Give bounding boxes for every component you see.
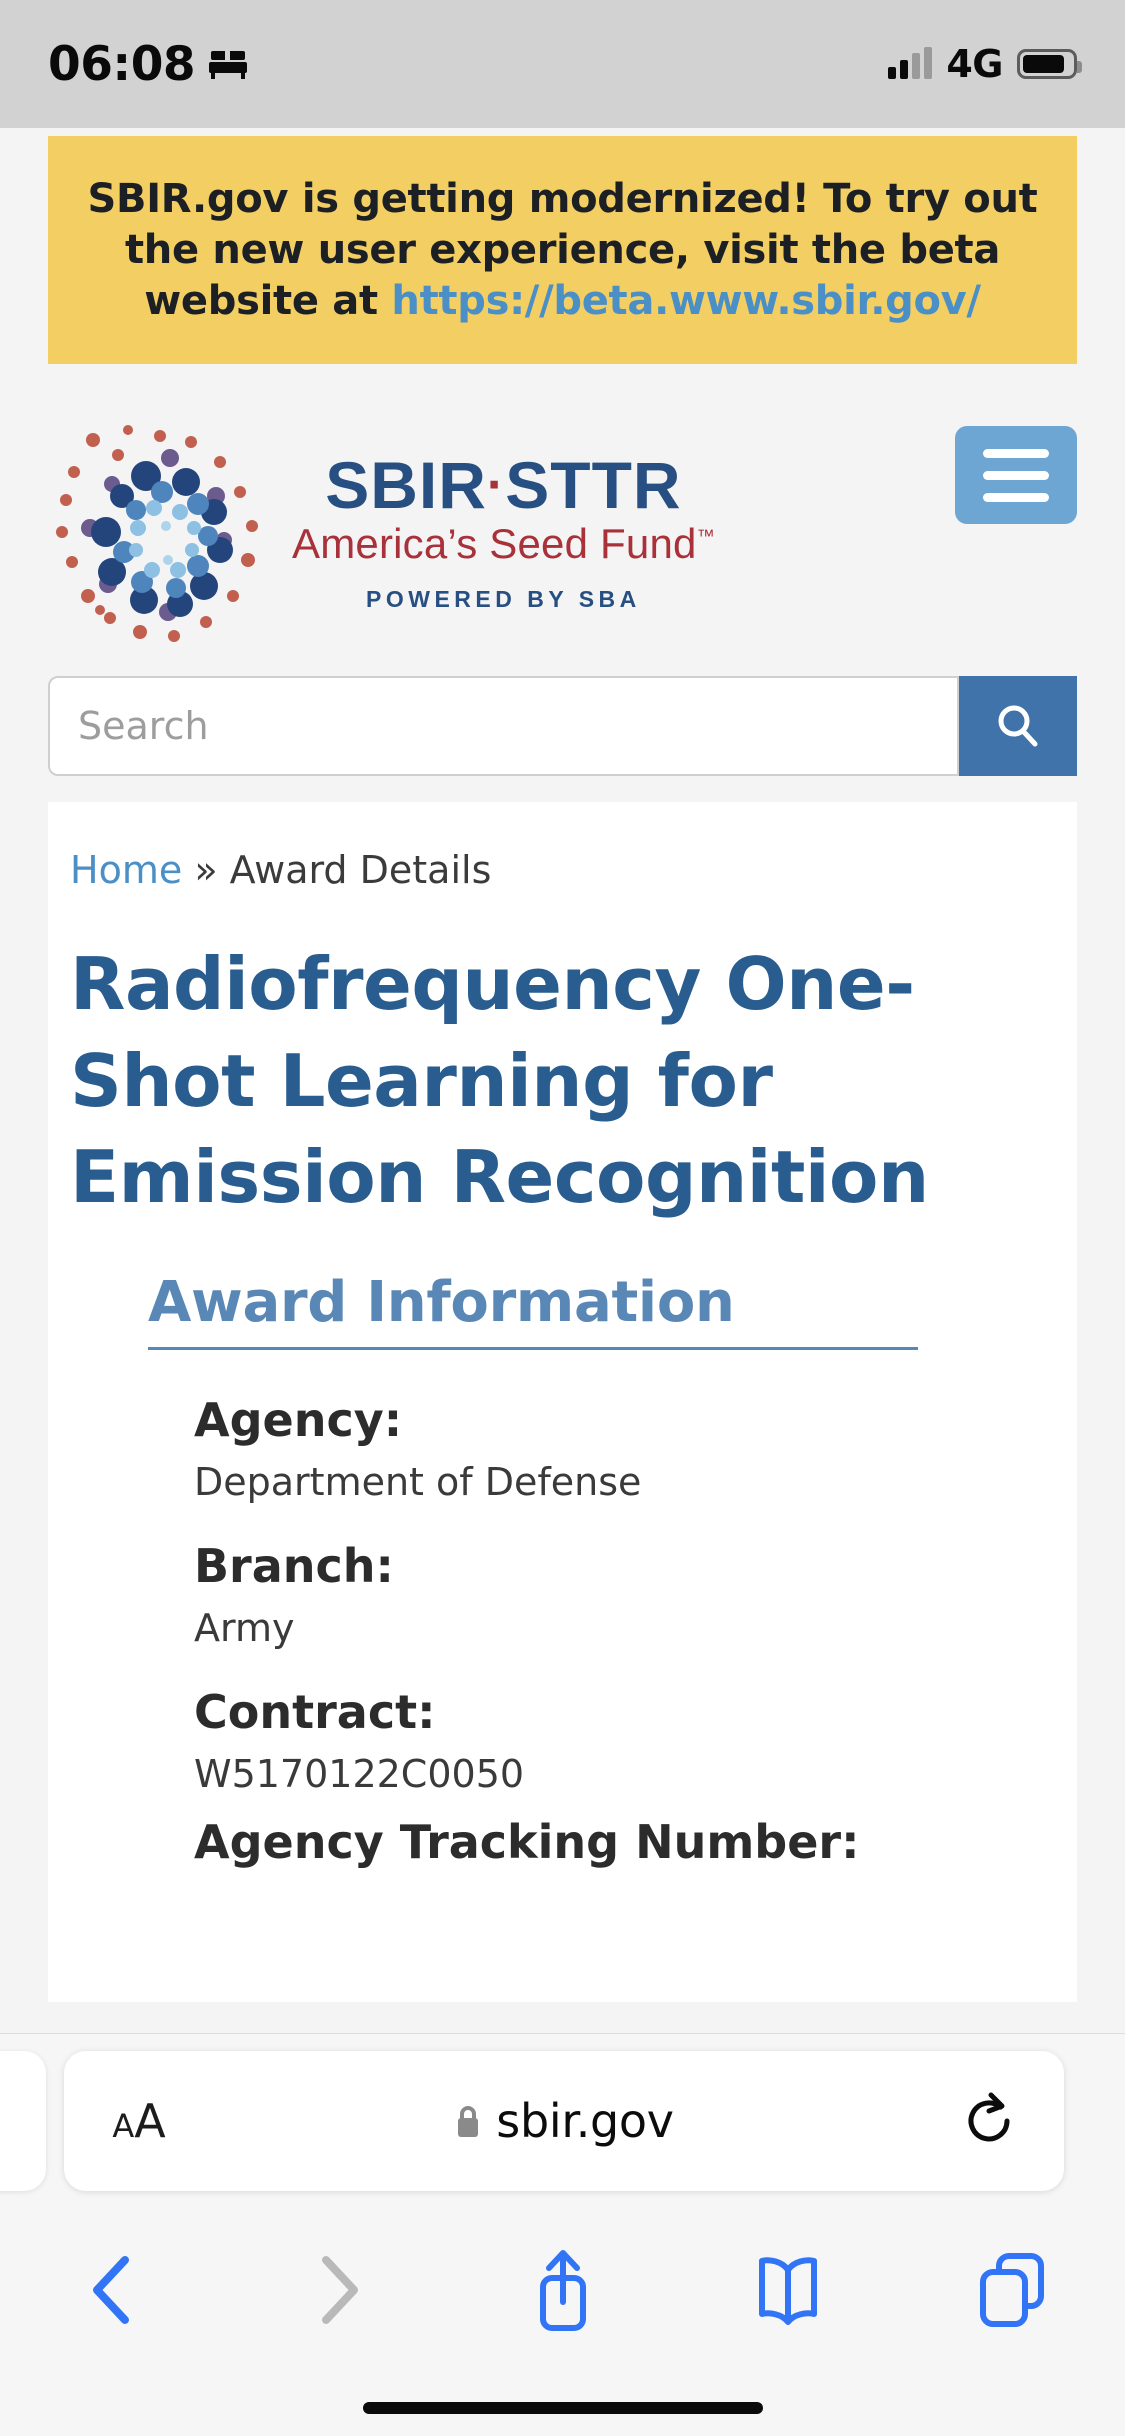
forward-chevron-icon: [308, 2252, 368, 2328]
address-bar[interactable]: AA sbir.gov: [64, 2051, 1064, 2191]
hamburger-bar-2: [983, 471, 1049, 480]
text-size-button[interactable]: AA: [64, 2094, 214, 2148]
breadcrumb: Home » Award Details: [48, 802, 1077, 892]
bookmarks-icon: [750, 2252, 826, 2328]
breadcrumb-home-link[interactable]: Home: [70, 848, 182, 892]
safari-bottom-bar: AA sbir.gov: [0, 2033, 1125, 2436]
field-label-agency-tracking-number: Agency Tracking Number:: [194, 1808, 1055, 1877]
share-icon: [527, 2244, 599, 2336]
breadcrumb-current: Award Details: [230, 848, 492, 892]
battery-icon: [1017, 49, 1077, 79]
field-value-contract: W5170122C0050: [194, 1747, 1055, 1802]
logo-tagline-text: America’s Seed Fund: [292, 520, 697, 567]
field-label-agency: Agency:: [194, 1386, 1055, 1455]
adjacent-tab-peek[interactable]: [0, 2051, 46, 2191]
search-bar: [48, 676, 1077, 776]
forward-button[interactable]: [225, 2252, 450, 2328]
trademark-symbol: ™: [697, 526, 715, 546]
text-size-large-a: A: [134, 2094, 165, 2148]
field-value-branch: Army: [194, 1601, 1055, 1656]
tabs-button[interactable]: [900, 2250, 1125, 2330]
back-chevron-icon: [83, 2252, 143, 2328]
logo-wordmark: SBIR·STTR America’s Seed Fund™ POWERED B…: [292, 438, 715, 613]
breadcrumb-separator: »: [194, 848, 217, 892]
site-header: SBIR·STTR America’s Seed Fund™ POWERED B…: [0, 364, 1125, 650]
logo-title: SBIR·STTR: [325, 452, 681, 518]
banner-text: SBIR.gov is getting modernized! To try o…: [78, 174, 1047, 326]
field-label-contract: Contract:: [194, 1678, 1055, 1747]
status-bar-clock: 06:08: [48, 41, 195, 88]
status-bar: 06:08 4G: [0, 0, 1125, 128]
section-heading: Award Information: [148, 1270, 918, 1350]
page-title: Radiofrequency One-Shot Learning for Emi…: [48, 892, 1077, 1225]
share-button[interactable]: [450, 2244, 675, 2336]
text-size-small-a: A: [112, 2107, 134, 2145]
field-value-agency: Department of Defense: [194, 1455, 1055, 1510]
award-information-section: Award Information Agency: Department of …: [148, 1270, 1055, 1877]
beta-site-banner: SBIR.gov is getting modernized! To try o…: [48, 136, 1077, 364]
search-icon: [993, 701, 1043, 751]
back-button[interactable]: [0, 2252, 225, 2328]
status-bar-left: 06:08: [48, 41, 247, 88]
phone-screen: 06:08 4G SBIR.gov is getting modernized!…: [0, 0, 1125, 2436]
hamburger-menu-button[interactable]: [955, 426, 1077, 524]
logo-title-sttr: STTR: [505, 448, 681, 522]
award-field-list: Agency: Department of Defense Branch: Ar…: [194, 1386, 1055, 1877]
web-page-viewport: SBIR.gov is getting modernized! To try o…: [0, 128, 1125, 2033]
network-type-label: 4G: [946, 42, 1003, 86]
url-domain-text: sbir.gov: [496, 2094, 673, 2148]
search-submit-button[interactable]: [959, 676, 1077, 776]
reload-icon: [957, 2089, 1021, 2153]
browser-toolbar: [0, 2215, 1125, 2365]
home-indicator: [363, 2402, 763, 2414]
logo-title-separator: ·: [487, 456, 505, 514]
reload-button[interactable]: [914, 2089, 1064, 2153]
logo-tagline: America’s Seed Fund™: [292, 520, 715, 568]
search-input[interactable]: [48, 676, 959, 776]
hamburger-bar-3: [983, 493, 1049, 502]
lock-icon: [454, 2103, 482, 2139]
sbir-sttr-burst-logo-icon: [48, 400, 288, 650]
award-details-card: Home » Award Details Radiofrequency One-…: [48, 802, 1077, 2002]
cellular-bars-icon: [888, 49, 932, 79]
bookmarks-button[interactable]: [675, 2252, 900, 2328]
logo-title-sbir: SBIR: [325, 448, 487, 522]
site-logo[interactable]: SBIR·STTR America’s Seed Fund™ POWERED B…: [48, 400, 715, 650]
logo-powered-by: POWERED BY SBA: [366, 586, 641, 613]
url-display[interactable]: sbir.gov: [214, 2094, 914, 2148]
tabs-icon: [975, 2250, 1051, 2330]
bed-icon: [209, 49, 247, 79]
status-bar-right: 4G: [888, 42, 1077, 86]
field-label-branch: Branch:: [194, 1532, 1055, 1601]
hamburger-bar-1: [983, 449, 1049, 458]
beta-site-link[interactable]: https://beta.www.sbir.gov/: [391, 278, 980, 324]
